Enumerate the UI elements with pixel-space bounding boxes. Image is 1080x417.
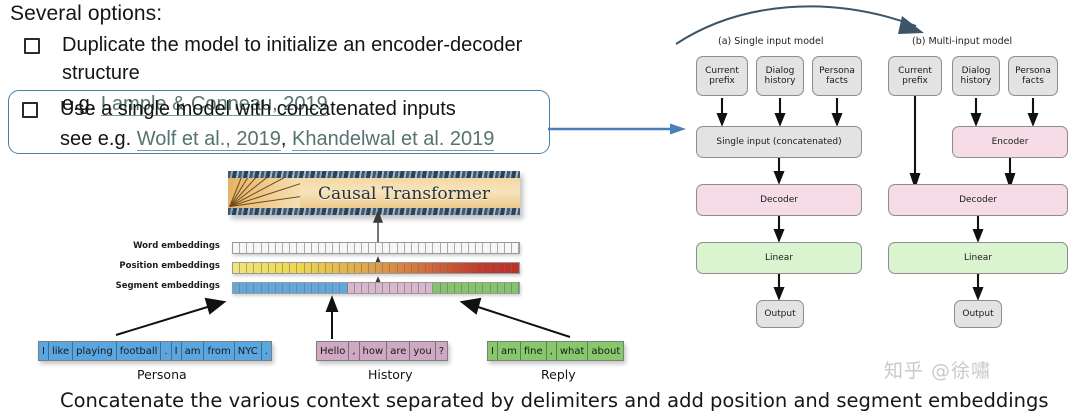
token-history-1: , [349,342,359,360]
embedding-cell [512,243,519,253]
caption-reply: Reply [541,367,576,382]
token-persona-3: football [117,342,162,360]
token-history-4: you [410,342,435,360]
embedding-cell [448,243,455,253]
embedding-cell [269,283,276,293]
embedding-cell [276,263,283,273]
causal-transformer-block: Causal Transformer [228,171,520,215]
embedding-cell [333,283,340,293]
token-history-3: are [387,342,410,360]
node-a-current-prefix: Currentprefix [696,56,748,96]
embedding-cell [297,283,304,293]
embedding-cell [441,283,448,293]
embedding-cell [498,283,505,293]
embedding-cell [240,243,247,253]
bullet-marker-icon [22,102,38,118]
node-b-decoder: Decoder [888,184,1068,216]
node-a-decoder: Decoder [696,184,862,216]
row-segment-embeddings [232,282,520,294]
embedding-cell [362,243,369,253]
embedding-cell [498,243,505,253]
embedding-cell [233,283,240,293]
embedding-cell [240,283,247,293]
embedding-cell [448,283,455,293]
embedding-cell [398,263,405,273]
token-persona-5: I [172,342,182,360]
token-strip-reply: Iamfine,whatabout [487,341,624,361]
bullet-2-prefix: see e.g. [60,128,137,150]
embedding-cell [491,263,498,273]
embedding-cell [333,263,340,273]
token-persona-6: am [182,342,205,360]
caption-history: History [368,367,412,382]
embedding-cell [483,283,490,293]
embedding-cell [383,263,390,273]
token-persona-8: NYC [235,342,262,360]
embedding-cell [348,283,355,293]
embedding-cell [340,283,347,293]
embedding-cell [247,263,254,273]
token-persona-1: like [49,342,73,360]
embedding-cell [312,243,319,253]
node-b-linear: Linear [888,242,1068,274]
slide-canvas: Several options: Duplicate the model to … [0,0,1080,417]
token-reply-2: fine [521,342,547,360]
row-word-embeddings [232,242,520,254]
arrow-a-concat-to-decoder [690,158,870,184]
token-strip-history: Hello,howareyou? [316,341,448,361]
arrow-b-linear-to-output [880,274,1070,300]
embedding-cell [462,243,469,253]
causal-transformer-label: Causal Transformer [318,180,490,208]
token-persona-4: . [161,342,171,360]
arrow-a-decoder-to-linear [690,216,870,242]
embedding-cell [290,263,297,273]
embedding-cell [398,243,405,253]
token-history-0: Hello [317,342,349,360]
embedding-cell [369,283,376,293]
token-persona-7: from [204,342,234,360]
figure-panel-b-title: (b) Multi-input model [912,36,1012,47]
token-history-5: ? [436,342,447,360]
embedding-cell [269,263,276,273]
embedding-cell [419,283,426,293]
embedding-cell [476,243,483,253]
bullet-2-line2: see e.g. Wolf et al., 2019, Khandelwal e… [60,125,494,153]
embedding-cell [348,263,355,273]
embedding-cell [340,263,347,273]
embedding-cell [498,263,505,273]
embedding-cell [355,243,362,253]
embedding-row-labels: Word embeddings Position embeddings Segm… [95,240,220,302]
embedding-cell [348,243,355,253]
token-reply-3: , [547,342,557,360]
embedding-cell [319,283,326,293]
node-a-persona-facts: Personafacts [812,56,862,96]
row-position-embeddings [232,262,520,274]
bullet-1-line1: Duplicate the model to initialize an enc… [62,34,522,84]
embedding-cell [283,263,290,273]
embedding-cell [276,243,283,253]
embedding-cell [426,283,433,293]
embedding-cell [376,263,383,273]
embedding-cell [512,263,519,273]
embedding-cell [326,283,333,293]
embedding-cell [254,243,261,253]
embedding-cell [362,263,369,273]
embedding-cell [312,283,319,293]
embedding-cell [369,263,376,273]
node-a-dialog-history: Dialoghistory [756,56,804,96]
embedding-cell [505,263,512,273]
embedding-cell [240,263,247,273]
embedding-cell [433,263,440,273]
embedding-cell [476,263,483,273]
embedding-cell [505,243,512,253]
token-reply-4: what [557,342,589,360]
embedding-cell [362,283,369,293]
embedding-cell [483,263,490,273]
embedding-cell [483,243,490,253]
label-segment-embeddings: Segment embeddings [116,281,220,291]
embedding-cell [269,243,276,253]
embedding-cell [290,243,297,253]
node-b-output: Output [954,300,1002,328]
embedding-cell [369,243,376,253]
arrow-to-figure-icon [548,122,688,136]
embedding-cell [312,263,319,273]
embedding-cell [491,283,498,293]
embedding-cell [326,263,333,273]
embedding-cell [305,243,312,253]
embedding-cell [333,243,340,253]
token-strip-persona: Ilikeplayingfootball.IamfromNYC. [38,341,272,361]
embedding-cell [305,283,312,293]
token-persona-2: playing [73,342,117,360]
embedding-cell [405,263,412,273]
token-persona-9: . [262,342,271,360]
embedding-cell [469,283,476,293]
token-reply-1: am [498,342,521,360]
node-a-output: Output [756,300,804,328]
slide-bottom-caption: Concatenate the various context separate… [60,389,1049,412]
link-wolf-et-al-2019[interactable]: Wolf et al., 2019 [137,128,281,151]
embedding-cell [462,283,469,293]
link-khandelwal-et-al-2019[interactable]: Khandelwal et al. 2019 [292,128,494,151]
token-history-2: how [360,342,388,360]
node-a-single-input: Single input (concatenated) [696,126,862,158]
embedding-cell [376,283,383,293]
arrow-b-prefix-bypass-to-decoder [880,96,1070,188]
embedding-cell [376,243,383,253]
embedding-cell [412,283,419,293]
embedding-cell [233,263,240,273]
embedding-cell [433,283,440,293]
embedding-cell [426,263,433,273]
figure-panel-a-title: (a) Single input model [718,36,824,47]
attention-fan-icon [228,178,300,208]
embedding-cell [355,263,362,273]
node-b-dialog-history: Dialoghistory [952,56,1000,96]
arrows-a-inputs-to-concat [690,96,870,126]
embedding-cell [412,263,419,273]
embedding-cell [455,243,462,253]
token-persona-0: I [39,342,49,360]
embedding-cell [441,243,448,253]
token-reply-0: I [488,342,498,360]
node-b-persona-facts: Personafacts [1008,56,1058,96]
arrow-a-linear-to-output [690,274,870,300]
bullet-item-single-model: Use a single model with concatenated inp… [22,95,532,154]
embedding-cell [476,283,483,293]
embedding-cell [283,283,290,293]
page-title: Several options: [10,2,162,26]
label-position-embeddings: Position embeddings [119,261,220,271]
embedding-cell [326,243,333,253]
label-word-embeddings: Word embeddings [133,241,220,251]
embedding-cell [405,283,412,293]
embedding-cell [340,243,347,253]
bullet-2-line1: Use a single model with concatenated inp… [60,98,456,120]
embedding-cell [262,263,269,273]
embedding-cell [254,283,261,293]
embedding-cell [390,283,397,293]
embedding-cell [290,283,297,293]
embedding-cell [390,263,397,273]
embedding-cell [426,243,433,253]
embedding-cell [297,243,304,253]
embedding-cell [383,243,390,253]
embedding-cell [412,243,419,253]
embedding-cell [319,243,326,253]
embedding-cell [262,243,269,253]
band-top-texture [228,171,520,178]
embedding-cell [448,263,455,273]
embedding-cell [254,263,261,273]
embedding-cell [491,243,498,253]
caption-persona: Persona [137,367,187,382]
embedding-cell [355,283,362,293]
embedding-cell [441,263,448,273]
embedding-cell [233,243,240,253]
embedding-cell [247,243,254,253]
embedding-cell [305,263,312,273]
model-architecture-figure: (a) Single input model Currentprefix Dia… [690,36,1080,356]
embedding-cell [433,243,440,253]
embedding-cell [469,263,476,273]
embedding-cell [297,263,304,273]
token-reply-5: about [588,342,623,360]
link-separator: , [281,128,292,150]
bullet-2-body: Use a single model with concatenated inp… [60,95,494,154]
arrow-b-decoder-to-linear [880,216,1070,242]
embedding-cell [262,283,269,293]
node-a-linear: Linear [696,242,862,274]
embedding-cell [390,243,397,253]
token-to-segment-arrows [110,295,580,345]
embedding-cell [247,283,254,293]
embedding-cell [419,243,426,253]
embedding-cell [512,283,519,293]
embedding-cell [283,243,290,253]
embedding-cell [419,263,426,273]
embedding-cell [276,283,283,293]
embedding-cell [462,263,469,273]
embedding-cell [455,263,462,273]
zhihu-watermark: 知乎 @徐嘯 [884,356,991,383]
embedding-cell [405,243,412,253]
node-b-current-prefix: Currentprefix [888,56,942,96]
embedding-cell [319,263,326,273]
bullet-marker-icon [24,38,40,54]
embedding-cell [505,283,512,293]
embedding-cell [469,243,476,253]
embedding-cell [383,283,390,293]
embedding-cell [398,283,405,293]
embedding-cell [455,283,462,293]
